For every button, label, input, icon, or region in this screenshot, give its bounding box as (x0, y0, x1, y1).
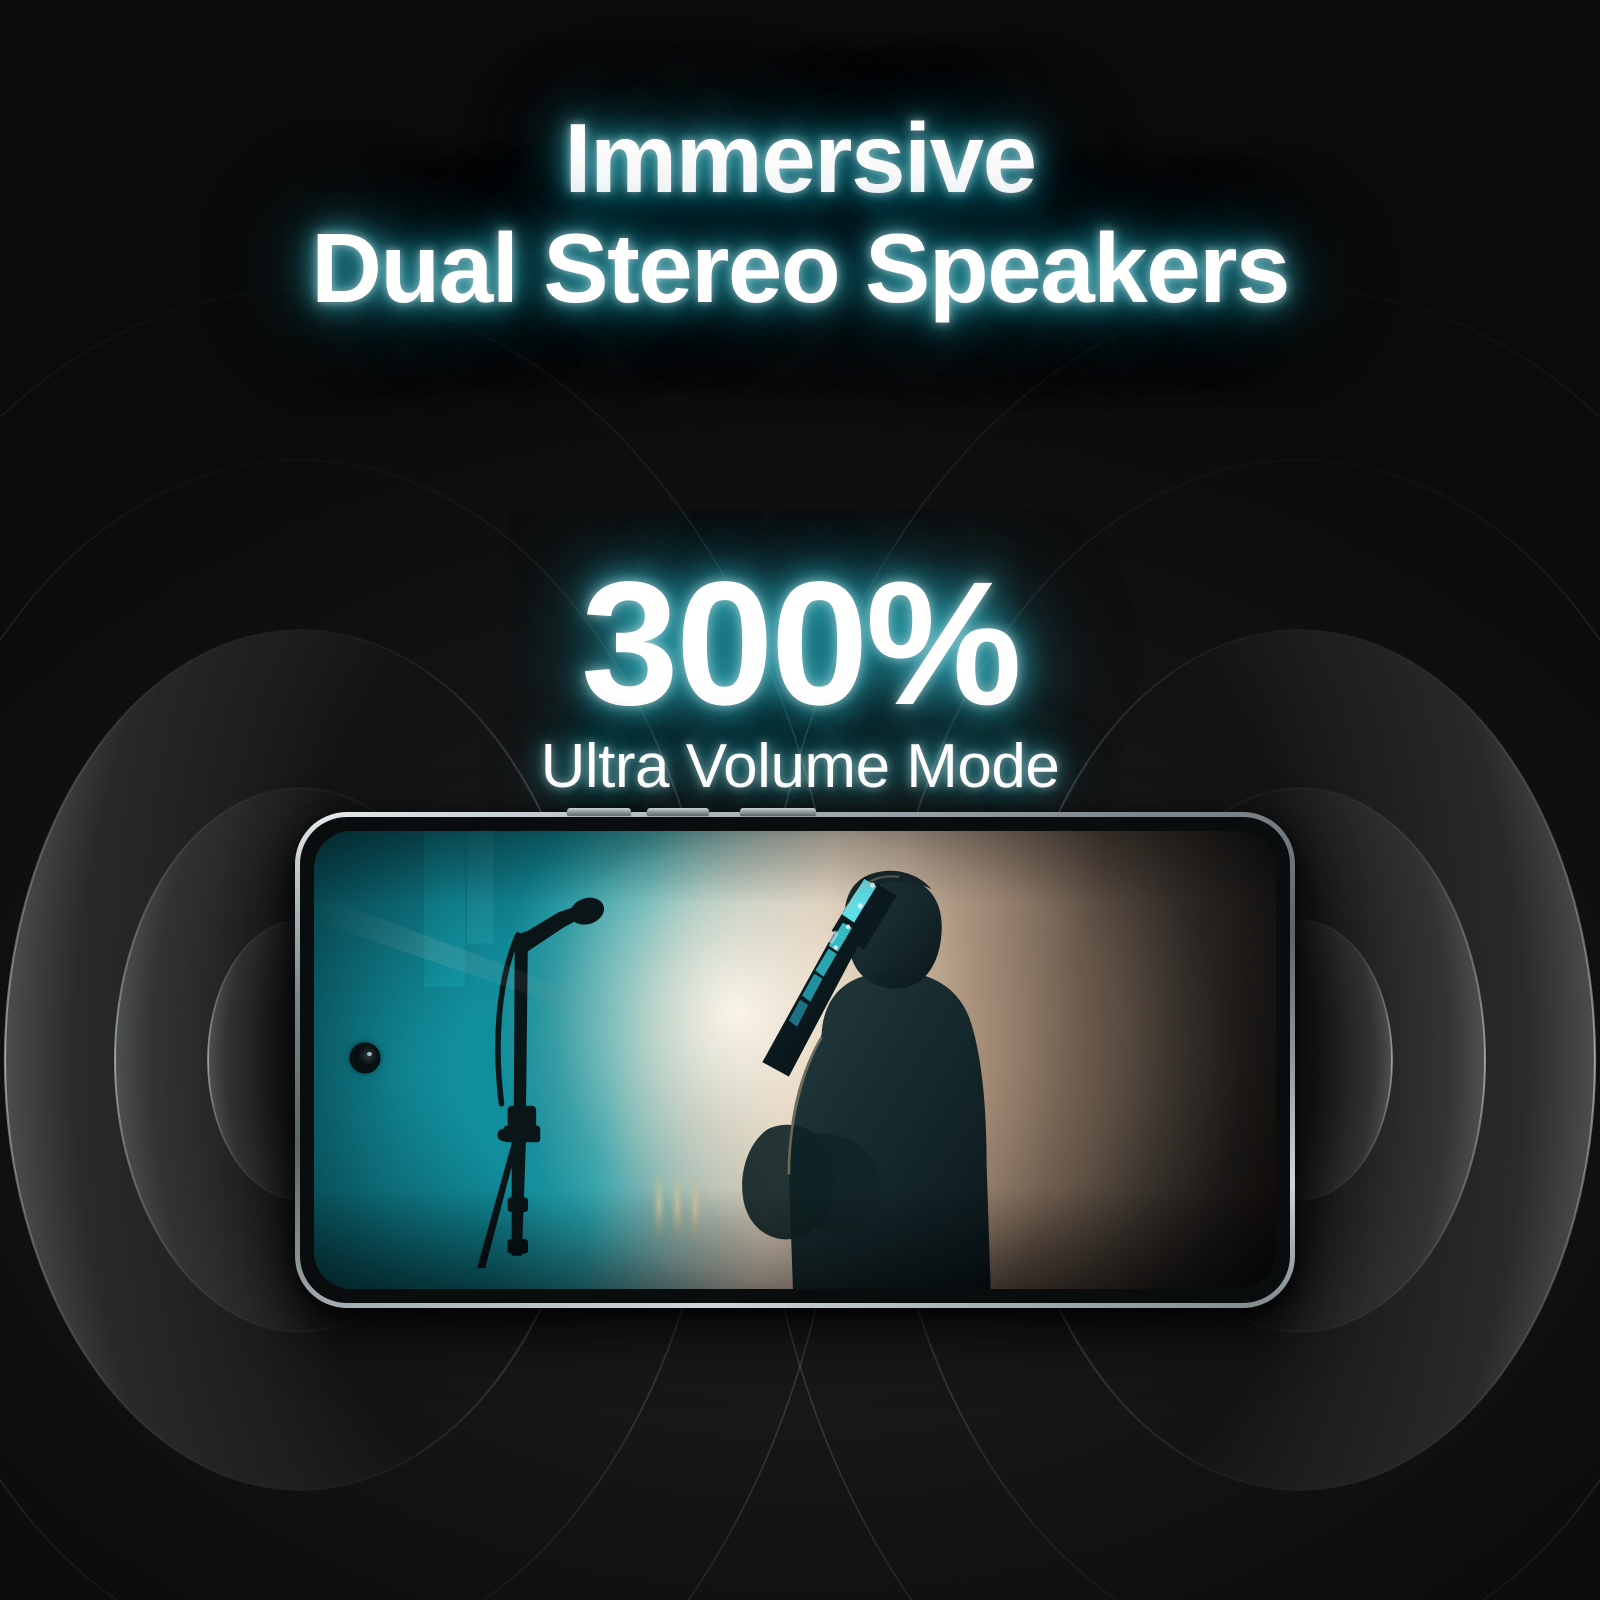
power-button[interactable] (740, 808, 816, 815)
stat-label: Ultra Volume Mode (0, 736, 1600, 798)
phone-screen[interactable] (314, 831, 1276, 1289)
front-camera-icon (352, 1045, 378, 1071)
stat-block: 300% Ultra Volume Mode (0, 556, 1600, 798)
page-title: Immersive Dual Stereo Speakers (0, 104, 1600, 324)
phone-bezel (300, 817, 1290, 1303)
phone-device (295, 812, 1295, 1308)
volume-up-button[interactable] (567, 808, 631, 815)
stat-value: 300% (0, 556, 1600, 732)
screen-vignette (314, 831, 1276, 1289)
promo-banner: Immersive Dual Stereo Speakers 300% Ultr… (0, 0, 1600, 1600)
concert-photo (314, 831, 1276, 1289)
volume-down-button[interactable] (647, 808, 709, 815)
